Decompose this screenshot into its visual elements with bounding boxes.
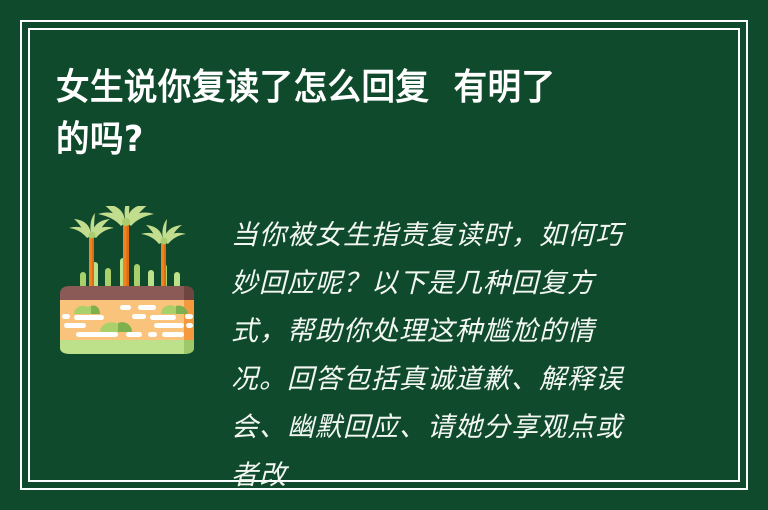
oasis-palm-island-icon	[58, 206, 202, 356]
sand-island-block	[60, 286, 194, 354]
page-title: 女生说你复读了怎么回复 有明了 的吗?	[56, 62, 614, 166]
article-body-text: 当你被女生指责复读时，如何巧妙回应呢？以下是几种回复方式，帮助你处理这种尴尬的情…	[231, 212, 643, 500]
poster-canvas: 女生说你复读了怎么回复 有明了 的吗?	[0, 0, 768, 510]
